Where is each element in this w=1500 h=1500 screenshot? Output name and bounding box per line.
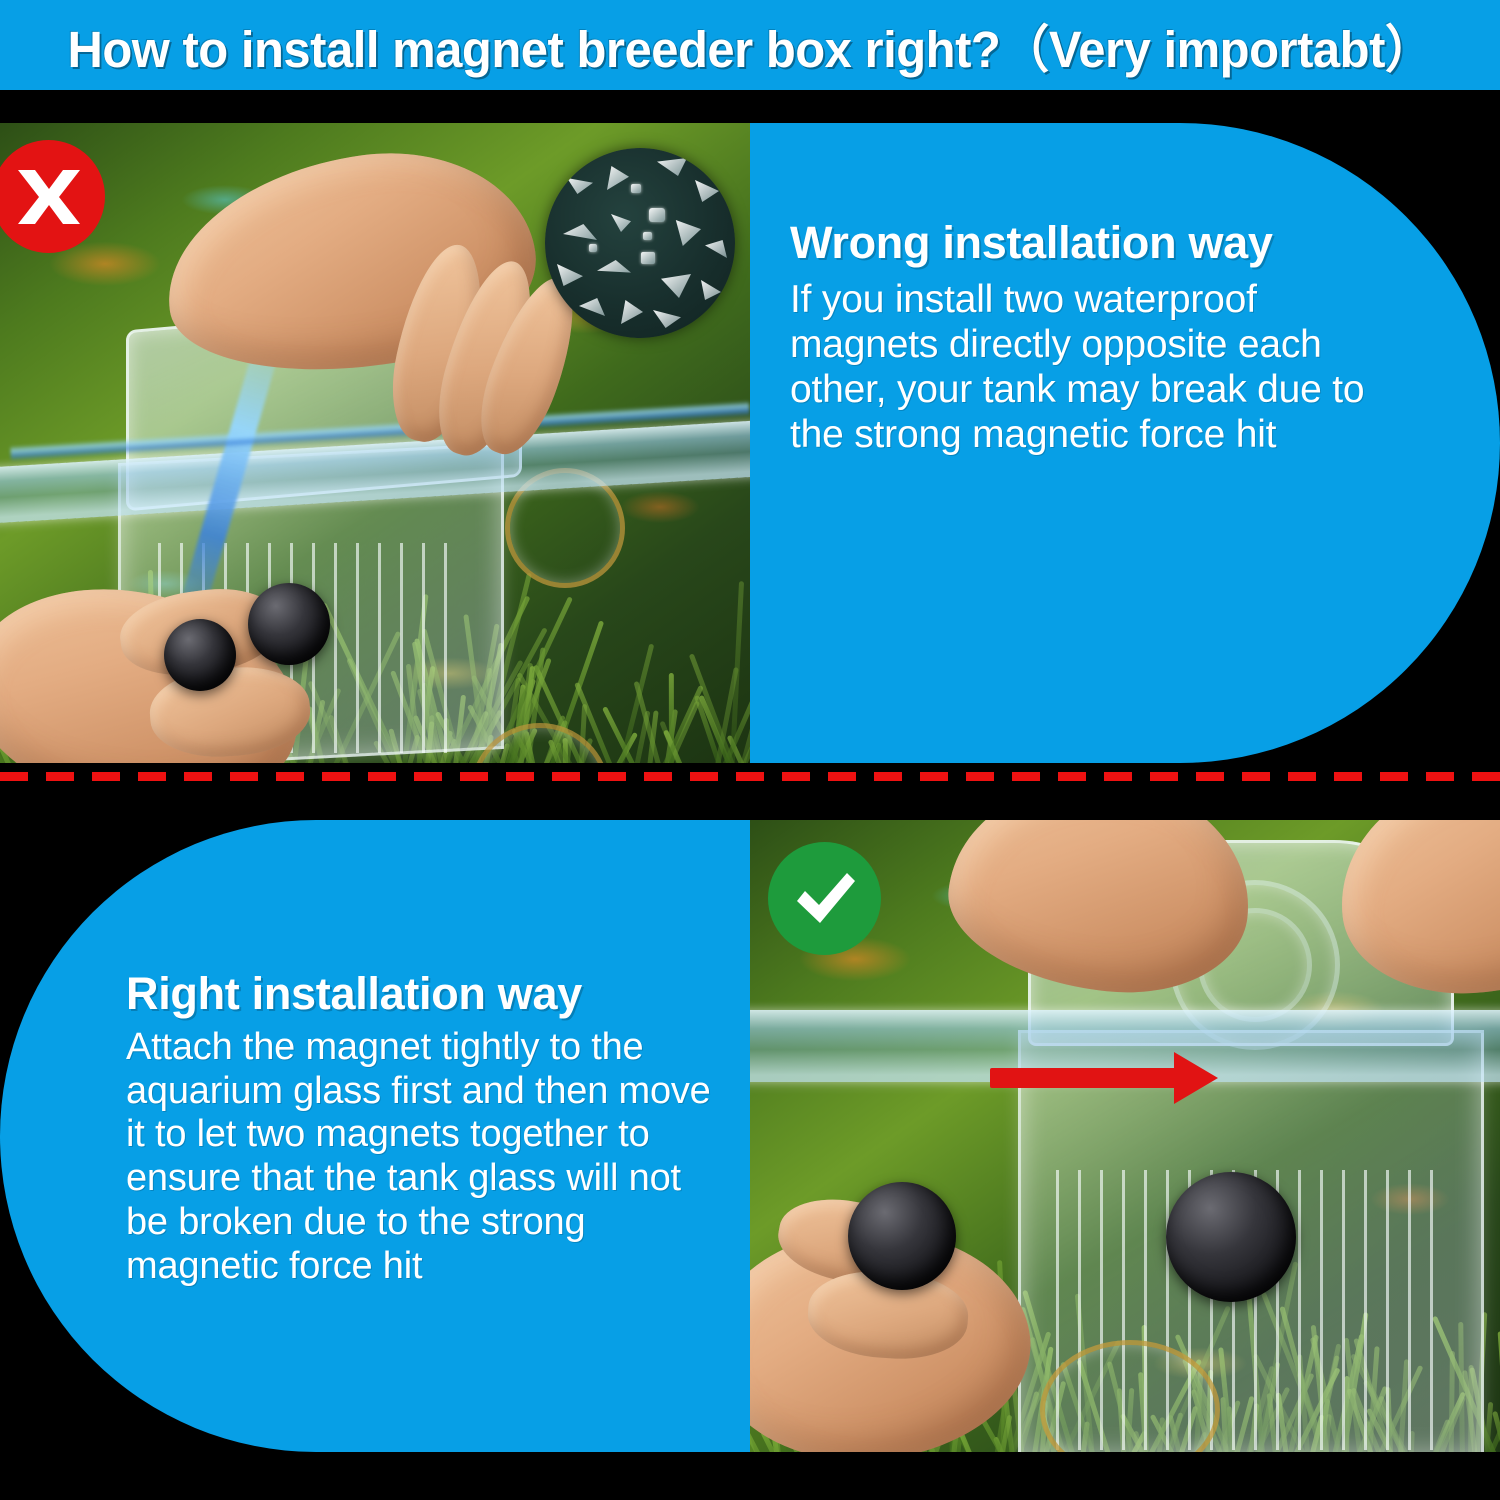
infographic-canvas: How to install magnet breeder box right?… [0,0,1500,1500]
slide-direction-arrow-line [990,1068,1180,1088]
broken-glass-inset [545,148,735,338]
header-banner: How to install magnet breeder box right?… [0,0,1500,90]
right-installation-section: Right installation way Attach the magnet… [0,820,1500,1452]
cross-icon [14,162,84,232]
wrong-panel-heading: Wrong installation way [790,219,1390,267]
section-divider [0,772,1500,781]
check-mark-badge [768,842,881,955]
wrong-panel-body: If you install two waterproof magnets di… [790,277,1390,458]
magnet-outer [848,1182,956,1290]
wrong-installation-panel: Wrong installation way If you install tw… [750,123,1500,763]
right-panel-body: Attach the magnet tightly to the aquariu… [126,1026,728,1289]
wrong-installation-section: Wrong installation way If you install tw… [0,123,1500,763]
slide-direction-arrow-head [1174,1052,1218,1104]
right-installation-panel: Right installation way Attach the magnet… [0,820,750,1452]
magnet-outer [164,619,236,691]
right-panel-heading: Right installation way [126,970,728,1018]
magnet-inner [1166,1172,1296,1302]
check-icon [789,863,861,935]
wrong-installation-photo [0,123,750,763]
magnet-inner [248,583,330,665]
right-installation-photo [750,820,1500,1452]
page-title: How to install magnet breeder box right?… [67,8,1433,82]
